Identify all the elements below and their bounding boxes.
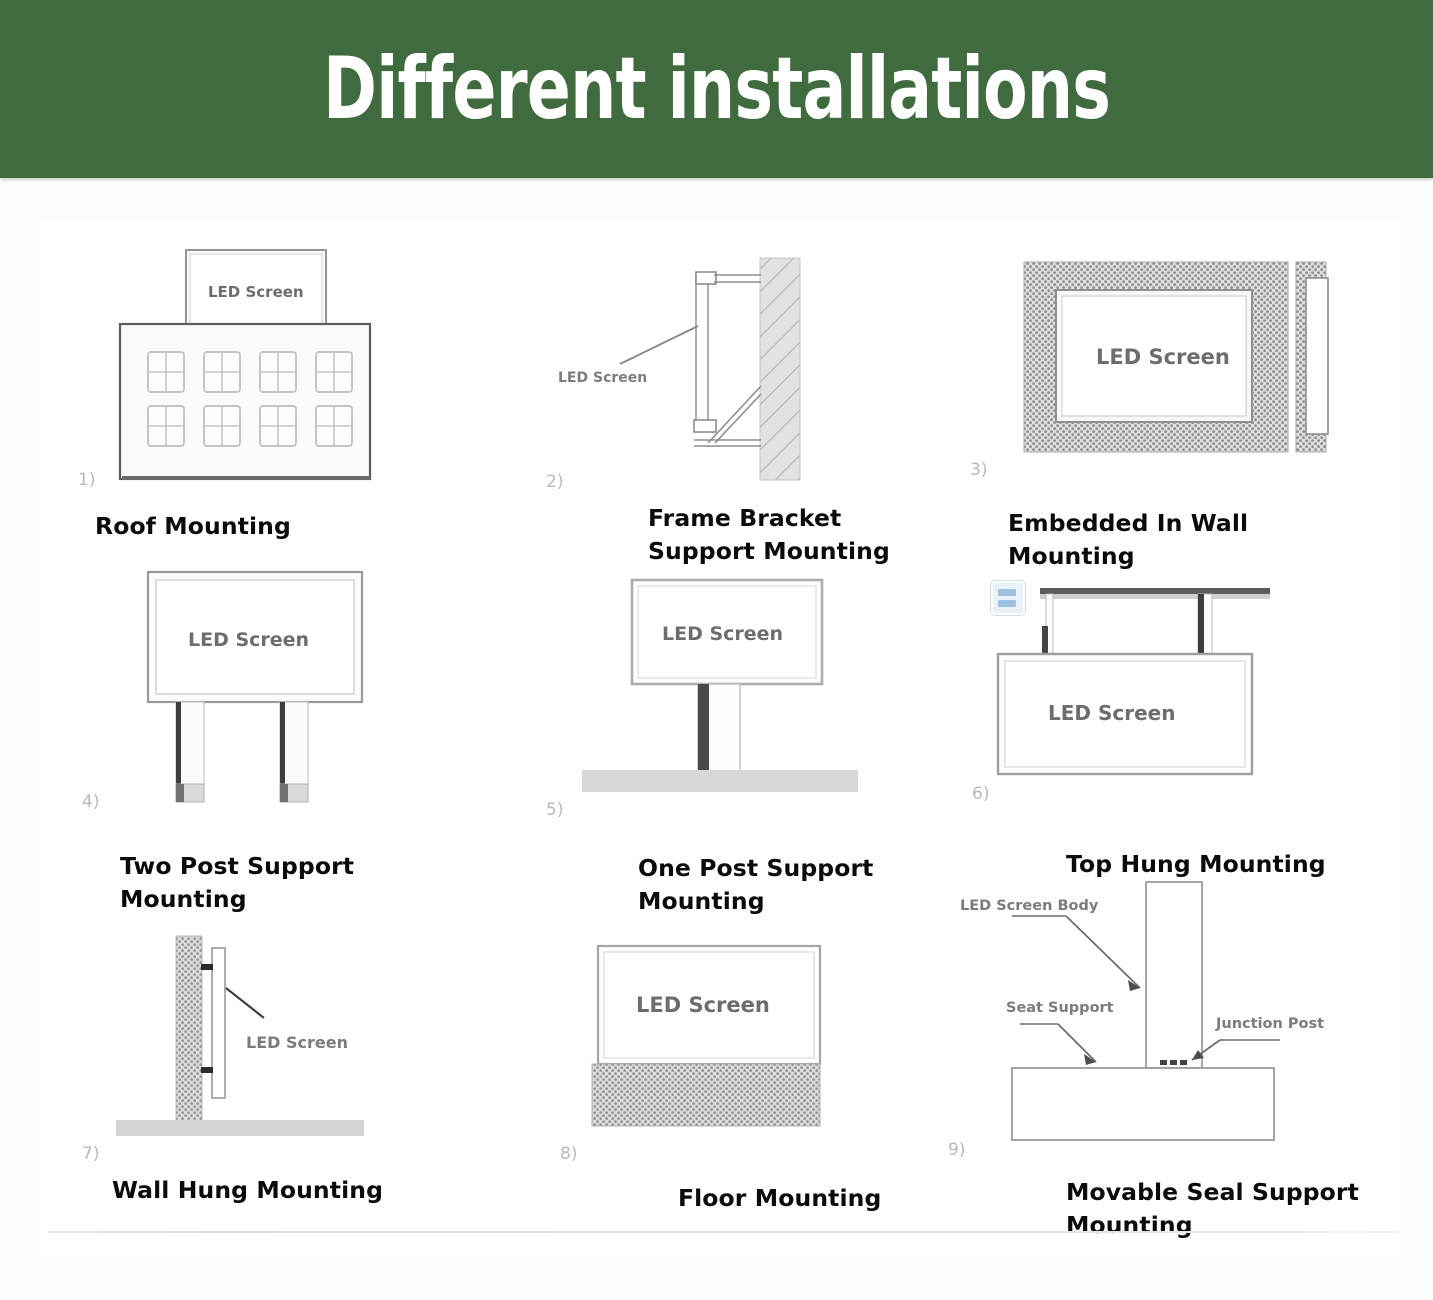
diagram-cell-top-hung-mounting: LED Screen 6) Top Hung Mounting <box>948 552 1400 902</box>
diagram-cell-embedded-in-wall-mounting: LED Screen 3) Embedded In Wall Mounting <box>948 222 1400 562</box>
diagram-grid: LED Screen <box>40 222 1400 1252</box>
diagram-caption-5: One Post Support Mounting <box>638 852 873 918</box>
svg-text:LED Screen: LED Screen <box>246 1033 348 1052</box>
diagram-caption-8: Floor Mounting <box>678 1182 881 1215</box>
diagram-number-4: 4) <box>82 792 99 812</box>
diagram-cell-two-post-mounting: LED Screen 4) Two Post Support Mounting <box>40 552 500 902</box>
roof-mounting-illustration: LED Screen <box>78 244 438 494</box>
diagram-number-5: 5) <box>546 800 563 820</box>
diagram-number-6: 6) <box>972 784 989 804</box>
wall-hung-illustration: LED Screen <box>88 922 488 1162</box>
diagram-cell-floor-mounting: LED Screen 8) Floor Mounting <box>498 912 958 1252</box>
svg-text:LED Screen: LED Screen <box>558 370 647 386</box>
svg-text:LED Screen: LED Screen <box>188 629 309 651</box>
one-post-support-illustration: LED Screen <box>550 572 930 832</box>
diagram-number-7: 7) <box>82 1144 99 1164</box>
page-title: Different installations <box>323 39 1110 139</box>
diagram-number-3: 3) <box>970 460 987 480</box>
svg-text:LED Screen: LED Screen <box>636 993 770 1017</box>
floor-mounting-illustration: LED Screen <box>590 940 970 1170</box>
bottom-divider <box>48 1231 1400 1233</box>
svg-text:LED Screen: LED Screen <box>1048 701 1175 725</box>
diagram-number-8: 8) <box>560 1144 577 1164</box>
diagram-caption-1: Roof Mounting <box>95 510 291 543</box>
embedded-in-wall-illustration: LED Screen <box>990 250 1390 500</box>
diagram-caption-4: Two Post Support Mounting <box>120 850 354 916</box>
page-header: Different installations <box>0 0 1433 178</box>
diagram-caption-7: Wall Hung Mounting <box>112 1174 383 1207</box>
svg-text:Seat Support: Seat Support <box>1006 1000 1114 1016</box>
svg-text:LED Screen Body: LED Screen Body <box>960 898 1099 914</box>
top-hung-illustration: LED Screen <box>990 578 1370 808</box>
two-post-support-illustration: LED Screen <box>88 562 448 822</box>
frame-bracket-illustration: LED Screen <box>558 244 958 504</box>
diagram-card: LED Screen <box>40 222 1400 1252</box>
svg-text:Junction Post: Junction Post <box>1215 1016 1324 1032</box>
page-root: Different installations LED Screen <box>0 0 1433 1300</box>
svg-text:LED Screen: LED Screen <box>208 283 304 301</box>
diagram-cell-wall-hung-mounting: LED Screen 7) Wall Hung Mounting <box>40 912 500 1252</box>
diagram-cell-roof-mounting: LED Screen <box>40 222 500 562</box>
diagram-cell-movable-seal-support-mounting: LED Screen Body Seat Support Junction Po… <box>948 872 1400 1252</box>
diagram-number-1: 1) <box>78 470 95 490</box>
diagram-cell-one-post-mounting: LED Screen 5) One Post Support Mounting <box>498 552 958 902</box>
movable-seal-support-illustration: LED Screen Body Seat Support Junction Po… <box>954 872 1374 1172</box>
diagram-number-2: 2) <box>546 472 563 492</box>
svg-text:LED Screen: LED Screen <box>662 623 783 645</box>
diagram-cell-frame-bracket-mounting: LED Screen 2) Frame Bracket Support Moun… <box>498 222 958 562</box>
diagram-number-9: 9) <box>948 1140 965 1160</box>
svg-text:LED Screen: LED Screen <box>1096 345 1230 369</box>
